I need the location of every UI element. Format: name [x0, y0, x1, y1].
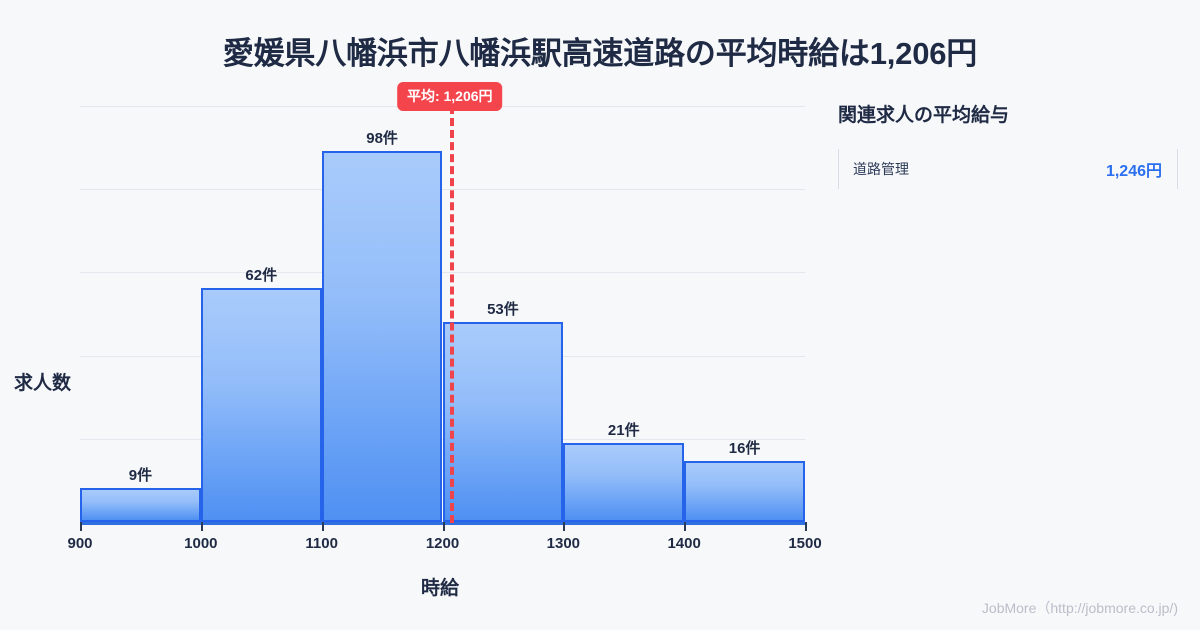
x-axis-tick-label: 1000 — [184, 535, 217, 552]
gridline — [80, 272, 805, 273]
bar-value-label: 53件 — [487, 298, 519, 319]
related-salary-row-label: 道路管理 — [853, 159, 909, 179]
x-axis-tick-label: 1300 — [547, 535, 580, 552]
bar — [201, 288, 322, 522]
bar — [563, 443, 684, 522]
bar-value-label: 62件 — [245, 264, 277, 285]
related-salary-title: 関連求人の平均給与 — [838, 100, 1178, 127]
average-badge: 平均: 1,206円 — [397, 82, 503, 111]
x-axis-tick-label: 1500 — [788, 535, 821, 552]
x-axis-tick — [80, 522, 82, 531]
x-axis-tick-label: 1100 — [305, 535, 338, 552]
related-salary-row-value: 1,246円 — [1106, 157, 1162, 181]
bar-value-label: 16件 — [729, 437, 761, 458]
x-axis-tick — [684, 522, 686, 531]
x-axis-tick-label: 1200 — [426, 535, 459, 552]
bar — [443, 322, 564, 522]
x-axis-tick — [201, 522, 203, 531]
footer-credit: JobMore（http://jobmore.co.jp/) — [982, 598, 1178, 618]
x-axis-tick — [322, 522, 324, 531]
x-axis-tick-label: 1400 — [667, 535, 700, 552]
gridline — [80, 189, 805, 190]
related-salary-row: 道路管理1,246円 — [838, 149, 1178, 189]
x-axis-tick — [443, 522, 445, 531]
bar — [684, 461, 805, 522]
bar-value-label: 21件 — [608, 419, 640, 440]
related-salary-rows: 道路管理1,246円 — [838, 149, 1178, 189]
average-line — [450, 106, 454, 523]
x-axis-tick — [563, 522, 565, 531]
plot-area: 9件62件98件53件21件16件90010001100120013001400… — [80, 98, 805, 523]
bar — [80, 488, 201, 522]
bar-value-label: 98件 — [366, 127, 398, 148]
page-title: 愛媛県八幡浜市八幡浜駅高速道路の平均時給は1,206円 — [0, 28, 1200, 73]
x-axis-tick — [805, 522, 807, 531]
bar — [322, 151, 443, 522]
related-salary-panel: 関連求人の平均給与 道路管理1,246円 — [838, 100, 1178, 189]
bar-value-label: 9件 — [129, 464, 152, 485]
x-axis-title: 時給 — [0, 573, 880, 600]
y-axis-title: 求人数 — [14, 368, 71, 395]
x-axis-tick-label: 900 — [67, 535, 92, 552]
histogram-chart: 求人数 9件62件98件53件21件16件9001000110012001300… — [0, 90, 820, 550]
